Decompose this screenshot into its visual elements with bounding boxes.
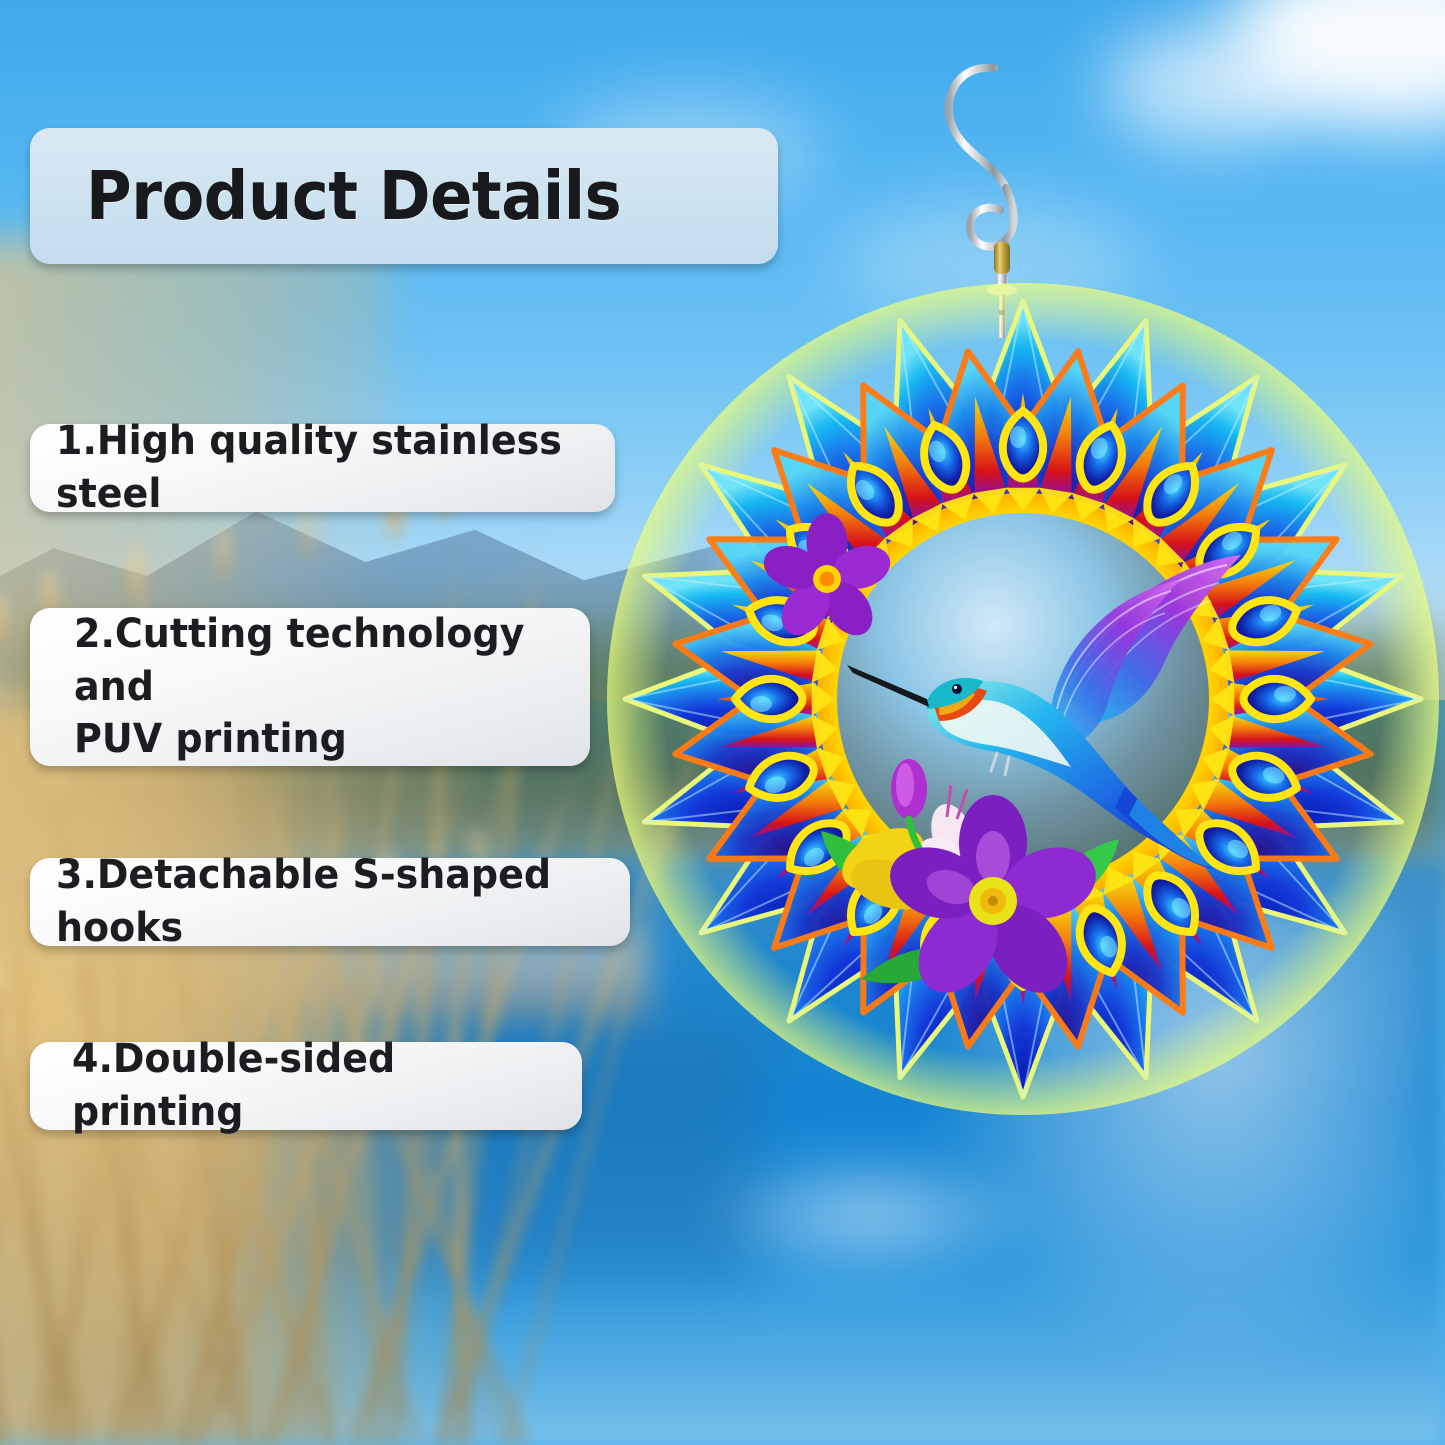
feature-label-4: 4.Double-sided printing <box>72 1033 557 1139</box>
feature-chip-2: 2.Cutting technology and PUV printing <box>30 608 590 766</box>
product-detail-image: Product Details 1.High quality stainless… <box>0 0 1445 1445</box>
feature-chip-4: 4.Double-sided printing <box>30 1042 582 1130</box>
feature-label-2: 2.Cutting technology and PUV printing <box>74 608 564 766</box>
water-ripple <box>700 1150 1040 1280</box>
page-title: Product Details <box>86 157 621 235</box>
feature-label-1: 1.High quality stainless steel <box>56 415 587 521</box>
page-title-chip: Product Details <box>30 128 778 264</box>
feature-chip-3: 3.Detachable S-shaped hooks <box>30 858 630 946</box>
feature-label-3: 3.Detachable S-shaped hooks <box>56 849 601 955</box>
reeds <box>0 180 580 1445</box>
mandala-spinner-disc <box>602 270 1445 1128</box>
feature-chip-1: 1.High quality stainless steel <box>30 424 615 512</box>
